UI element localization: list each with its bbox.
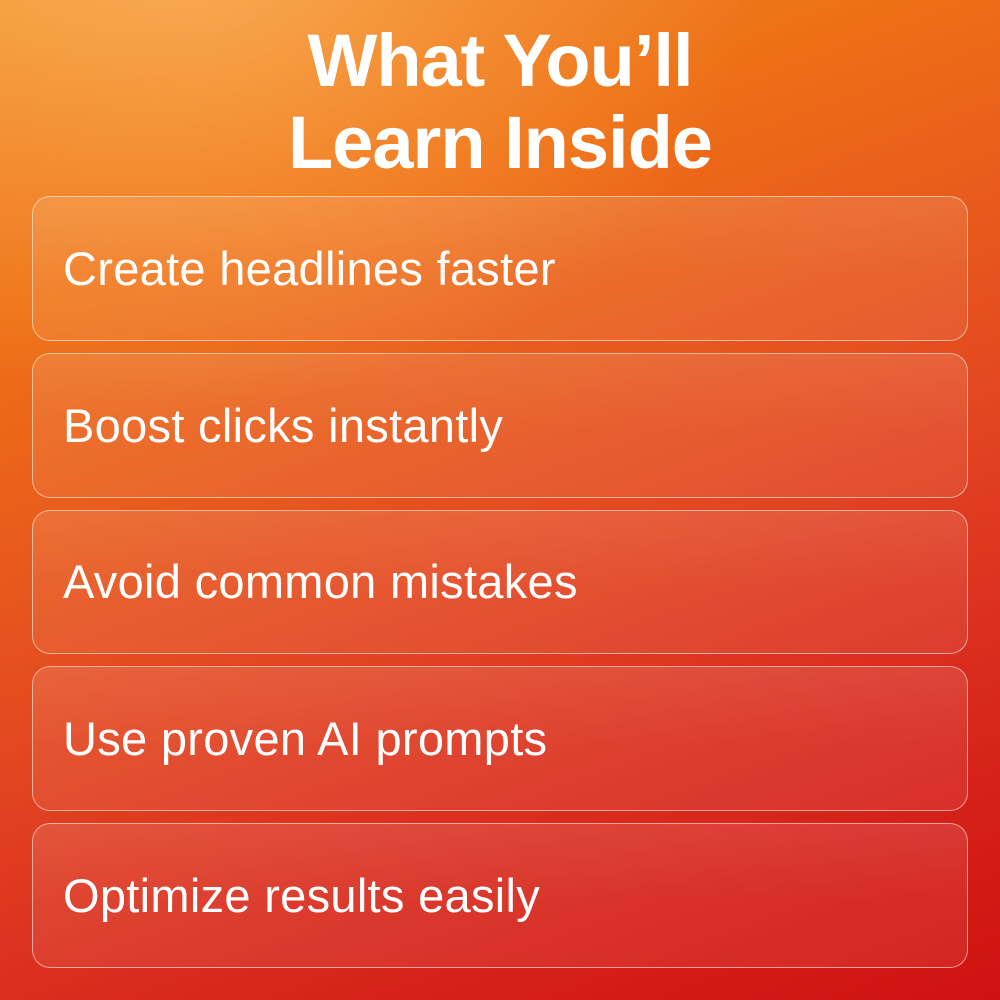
page-title: What You’ll Learn Inside	[32, 14, 968, 192]
benefit-label-1: Create headlines faster	[63, 244, 556, 293]
benefit-card-5[interactable]: Optimize results easily	[32, 823, 968, 968]
benefit-label-4: Use proven AI prompts	[63, 714, 547, 763]
benefit-label-3: Avoid common mistakes	[63, 557, 578, 606]
benefit-card-1[interactable]: Create headlines faster	[32, 196, 968, 341]
benefit-card-4[interactable]: Use proven AI prompts	[32, 666, 968, 811]
page-title-line-1: What You’ll	[32, 20, 968, 102]
benefit-label-2: Boost clicks instantly	[63, 401, 503, 450]
benefit-label-5: Optimize results easily	[63, 871, 540, 920]
benefit-card-2[interactable]: Boost clicks instantly	[32, 353, 968, 498]
benefit-list: Create headlines faster Boost clicks ins…	[32, 196, 968, 968]
promo-poster: What You’ll Learn Inside Create headline…	[0, 0, 1000, 1000]
page-title-line-2: Learn Inside	[32, 102, 968, 184]
benefit-card-3[interactable]: Avoid common mistakes	[32, 510, 968, 655]
